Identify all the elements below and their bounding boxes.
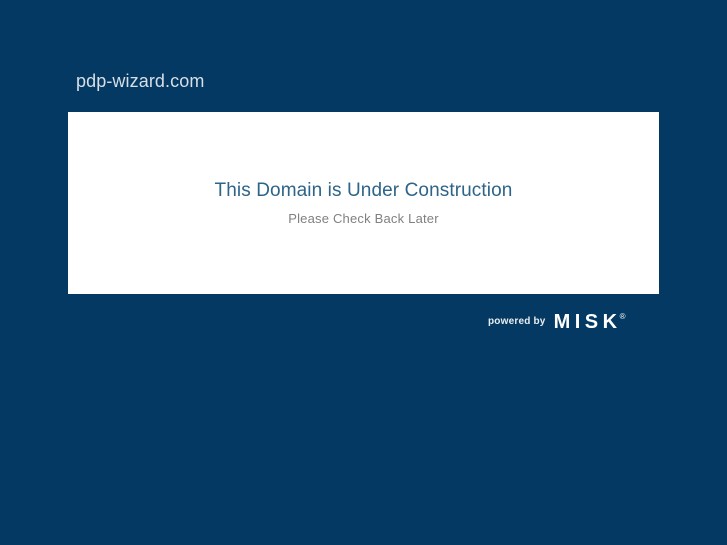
powered-by-misk-logo: powered by MISK ®: [488, 310, 625, 334]
card-content: This Domain is Under Construction Please…: [68, 112, 659, 294]
domain-name-heading: pdp-wizard.com: [76, 70, 204, 92]
under-construction-card: This Domain is Under Construction Please…: [68, 112, 659, 294]
page-subtitle: Please Check Back Later: [288, 210, 439, 227]
page-title: This Domain is Under Construction: [215, 179, 513, 202]
registered-trademark-icon: ®: [620, 313, 626, 321]
parking-page: pdp-wizard.com This Domain is Under Cons…: [0, 0, 727, 545]
misk-wordmark: MISK ®: [554, 312, 626, 333]
misk-brand-name: MISK: [554, 312, 622, 333]
powered-by-label: powered by: [488, 316, 546, 328]
